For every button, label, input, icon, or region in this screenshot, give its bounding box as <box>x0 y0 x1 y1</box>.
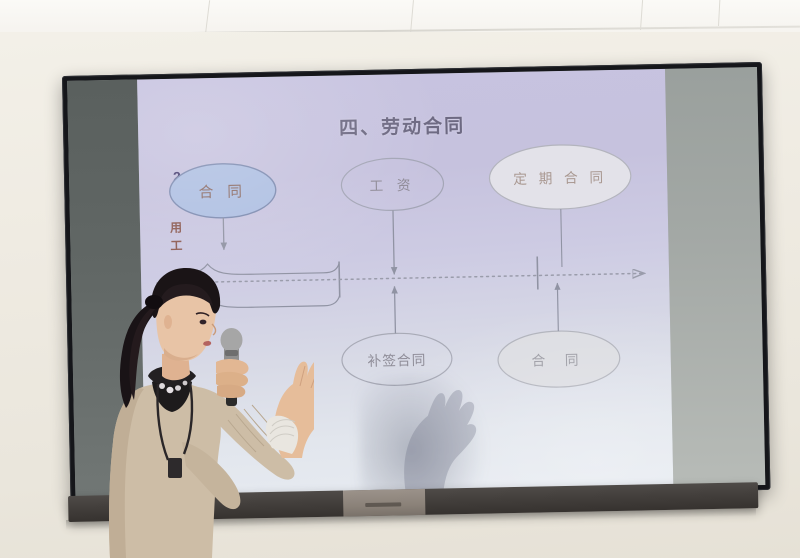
soundbar-logo <box>365 502 401 507</box>
presenter-figure <box>104 262 314 558</box>
cardigan <box>109 383 295 558</box>
ceiling-tile-seam <box>718 0 720 26</box>
node-gongzi[interactable]: 工 资 <box>341 157 444 211</box>
node-gongzi-label: 工 资 <box>369 177 415 194</box>
connector-hetong-down <box>223 218 224 250</box>
node-dingqi-hetong[interactable]: 定 期 合 同 <box>489 144 632 211</box>
badge <box>168 458 182 478</box>
connector-gongzi-down <box>393 210 394 274</box>
screenshot-scene: 四、劳动合同 2、签订时间 用 工 <box>0 0 800 558</box>
node-hetong-bottom-label: 合 同 <box>531 351 586 368</box>
gesturing-hand <box>266 359 314 458</box>
node-buqian-hetong[interactable]: 补签合同 <box>341 332 452 386</box>
node-hetong-bottom[interactable]: 合 同 <box>498 330 621 388</box>
pillarbox-right <box>665 67 765 487</box>
node-buqian-hetong-label: 补签合同 <box>367 352 426 369</box>
hand-holding-microphone <box>216 328 249 406</box>
head <box>151 268 220 361</box>
connector-buqian-up <box>394 286 395 333</box>
node-hetong-top-label: 合 同 <box>198 183 247 201</box>
presenter <box>104 262 314 558</box>
microphone-head <box>221 328 243 352</box>
connector-dingqi-down <box>561 209 562 267</box>
timeline-tick <box>537 256 538 289</box>
ceiling-tile-seam <box>205 0 210 34</box>
node-hetong-top[interactable]: 合 同 <box>169 163 276 219</box>
soundbar-center-module <box>343 489 426 517</box>
ceiling-tile-seam <box>640 0 643 30</box>
connector-hetong-bottom-up <box>557 283 558 331</box>
node-dingqi-hetong-label: 定 期 合 同 <box>513 169 607 187</box>
